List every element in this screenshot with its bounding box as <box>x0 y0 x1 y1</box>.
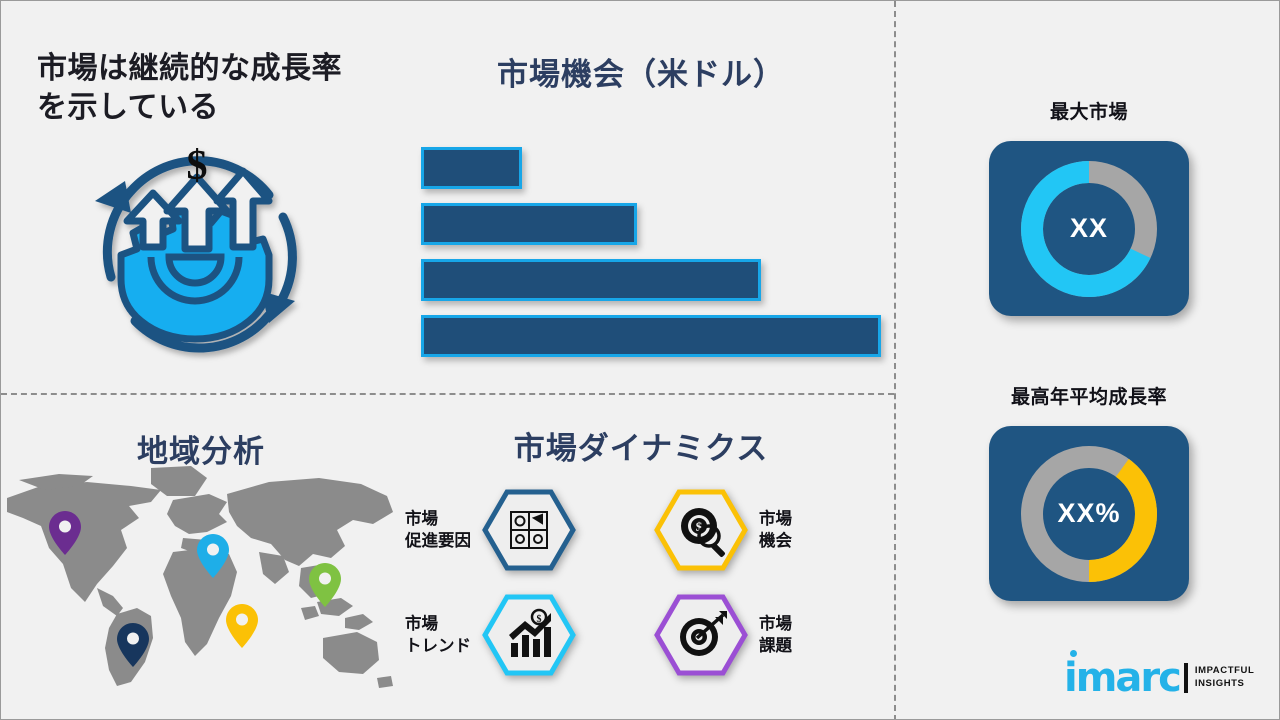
largest-market-value: XX <box>1070 213 1108 244</box>
bar-4 <box>421 315 881 357</box>
pin-europe[interactable] <box>197 534 229 583</box>
logo-dot <box>1070 650 1077 657</box>
highest-cagr-title: 最高年平均成長率 <box>959 382 1219 409</box>
dynamics-item-opportunities[interactable]: $ 市場 機会 <box>653 488 792 572</box>
dynamics-item-drivers-label: 市場 促進要因 <box>405 508 471 553</box>
opportunity-section-title: 市場機会（米ドル） <box>401 49 881 94</box>
largest-market-title: 最大市場 <box>959 97 1219 124</box>
imarc-logo[interactable]: imarc IMPACTFUL INSIGHTS <box>1064 658 1254 698</box>
dynamics-item-opportunities-label: 市場 機会 <box>759 508 792 553</box>
dynamics-item-trends-hexagon: $ <box>481 593 577 677</box>
svg-text:$: $ <box>537 614 542 625</box>
highest-cagr-value: XX% <box>1057 498 1120 529</box>
largest-market-card: XX <box>989 141 1189 316</box>
market-dynamics-grid: 市場 促進要因 市場 トレンド <box>405 488 875 678</box>
horizontal-divider <box>1 393 894 395</box>
bar-1 <box>421 147 522 189</box>
bar-3 <box>421 259 761 301</box>
dynamics-section-title: 市場ダイナミクス <box>401 423 881 468</box>
logo-divider <box>1184 663 1188 693</box>
highest-cagr-card: XX% <box>989 426 1189 601</box>
dynamics-item-drivers[interactable]: 市場 促進要因 <box>405 488 577 572</box>
pin-east-asia[interactable] <box>309 563 341 612</box>
dynamics-item-challenges-label: 市場 課題 <box>759 613 792 658</box>
logo-tagline: IMPACTFUL INSIGHTS <box>1195 665 1255 691</box>
growth-section-title: 市場は継続的な成長率 を示している <box>37 49 377 127</box>
infographic-slide: 市場は継続的な成長率 を示している <box>0 0 1280 720</box>
pin-north-america[interactable] <box>49 511 81 560</box>
dynamics-item-challenges-hexagon <box>653 593 749 677</box>
pin-south-america[interactable] <box>117 623 149 672</box>
growth-cycle-icon: $ <box>73 129 321 369</box>
bar-2 <box>421 203 637 245</box>
dynamics-item-trends-label: 市場 トレンド <box>405 613 471 658</box>
market-opportunity-bar-chart <box>421 147 881 357</box>
pin-middle-east[interactable] <box>226 604 258 653</box>
vertical-divider <box>894 1 896 720</box>
logo-wordmark: imarc <box>1064 658 1180 698</box>
dynamics-item-opportunities-hexagon: $ <box>653 488 749 572</box>
dynamics-item-trends[interactable]: 市場 トレンド $ <box>405 593 577 677</box>
dynamics-item-challenges[interactable]: 市場 課題 <box>653 593 792 677</box>
dynamics-item-drivers-hexagon <box>481 488 577 572</box>
svg-text:$: $ <box>187 143 208 189</box>
world-map <box>1 456 401 691</box>
